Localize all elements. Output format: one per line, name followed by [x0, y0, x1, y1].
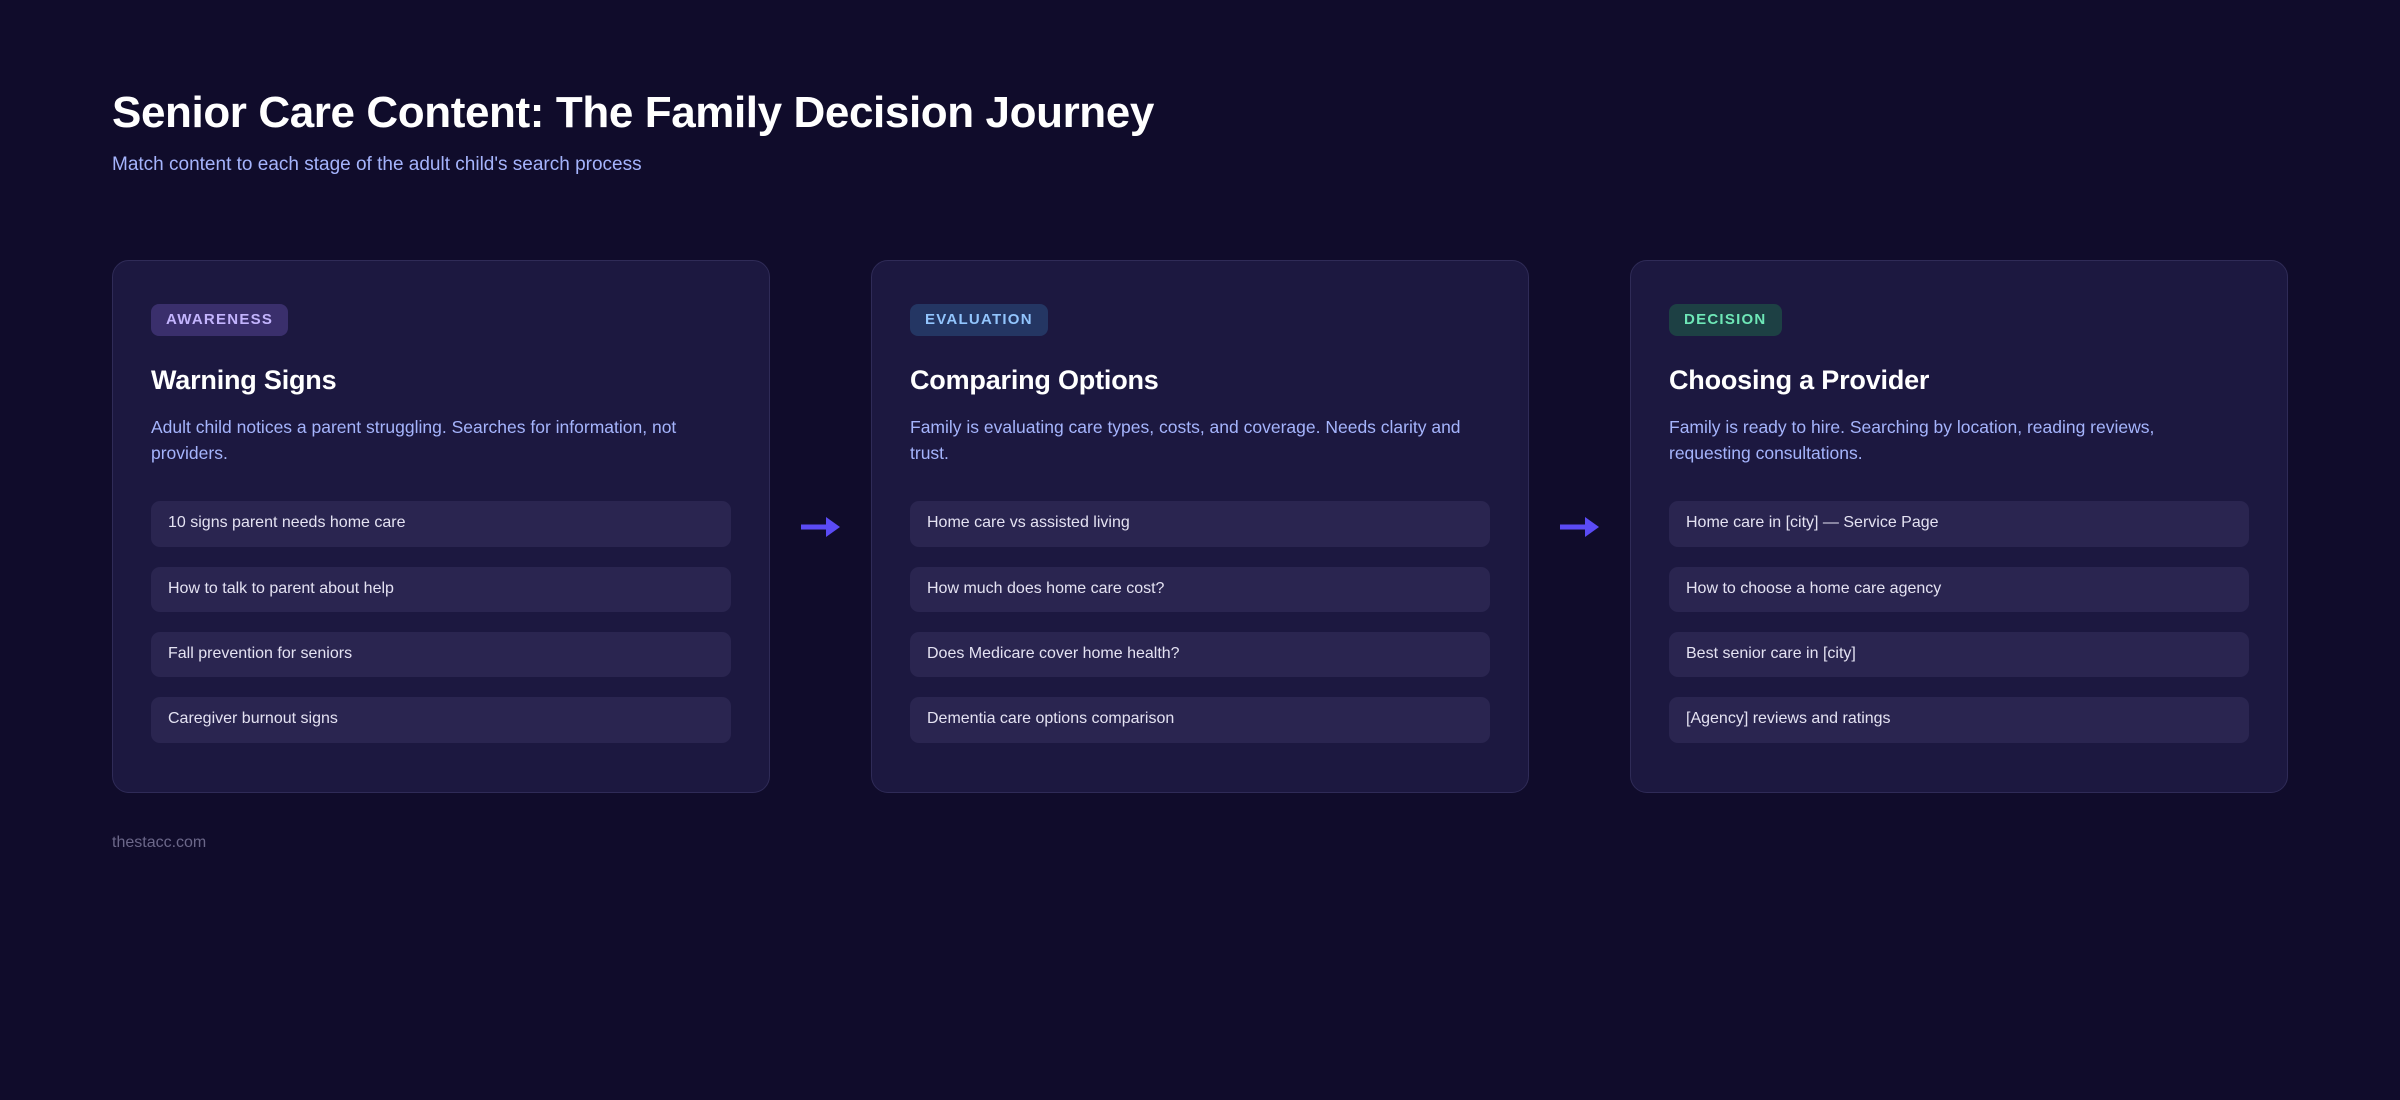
list-item[interactable]: Fall prevention for seniors	[151, 632, 731, 677]
stage-card-awareness[interactable]: AWARENESS Warning Signs Adult child noti…	[112, 260, 770, 793]
stage-title: Comparing Options	[910, 364, 1490, 396]
arrow-right-icon	[799, 514, 843, 540]
list-item[interactable]: Dementia care options comparison	[910, 697, 1490, 742]
page-title: Senior Care Content: The Family Decision…	[112, 88, 1154, 137]
list-item[interactable]: Home care in [city] — Service Page	[1669, 501, 2249, 546]
list-item[interactable]: Does Medicare cover home health?	[910, 632, 1490, 677]
stage-description: Family is ready to hire. Searching by lo…	[1669, 415, 2229, 467]
stage-badge-decision: DECISION	[1669, 304, 1782, 336]
list-item[interactable]: How much does home care cost?	[910, 567, 1490, 612]
infographic-page: Senior Care Content: The Family Decision…	[0, 0, 2400, 1100]
arrow-right-icon	[1558, 514, 1602, 540]
list-item[interactable]: Best senior care in [city]	[1669, 632, 2249, 677]
list-item[interactable]: Caregiver burnout signs	[151, 697, 731, 742]
stage-badge-evaluation: EVALUATION	[910, 304, 1048, 336]
source-attribution: thestacc.com	[112, 834, 206, 852]
stage-badge-awareness: AWARENESS	[151, 304, 288, 336]
stage-connector-2	[1529, 260, 1630, 793]
stage-card-decision[interactable]: DECISION Choosing a Provider Family is r…	[1630, 260, 2288, 793]
stage-title: Warning Signs	[151, 364, 731, 396]
page-header: Senior Care Content: The Family Decision…	[112, 88, 1154, 178]
list-item[interactable]: 10 signs parent needs home care	[151, 501, 731, 546]
page-subtitle: Match content to each stage of the adult…	[112, 152, 1154, 178]
journey-stage-row: AWARENESS Warning Signs Adult child noti…	[112, 260, 2288, 793]
stage-card-evaluation[interactable]: EVALUATION Comparing Options Family is e…	[871, 260, 1529, 793]
list-item[interactable]: How to choose a home care agency	[1669, 567, 2249, 612]
list-item[interactable]: Home care vs assisted living	[910, 501, 1490, 546]
content-idea-list: 10 signs parent needs home care How to t…	[151, 501, 731, 743]
content-idea-list: Home care vs assisted living How much do…	[910, 501, 1490, 743]
stage-description: Adult child notices a parent struggling.…	[151, 415, 711, 467]
content-idea-list: Home care in [city] — Service Page How t…	[1669, 501, 2249, 743]
stage-title: Choosing a Provider	[1669, 364, 2249, 396]
list-item[interactable]: [Agency] reviews and ratings	[1669, 697, 2249, 742]
stage-description: Family is evaluating care types, costs, …	[910, 415, 1470, 467]
list-item[interactable]: How to talk to parent about help	[151, 567, 731, 612]
stage-connector-1	[770, 260, 871, 793]
